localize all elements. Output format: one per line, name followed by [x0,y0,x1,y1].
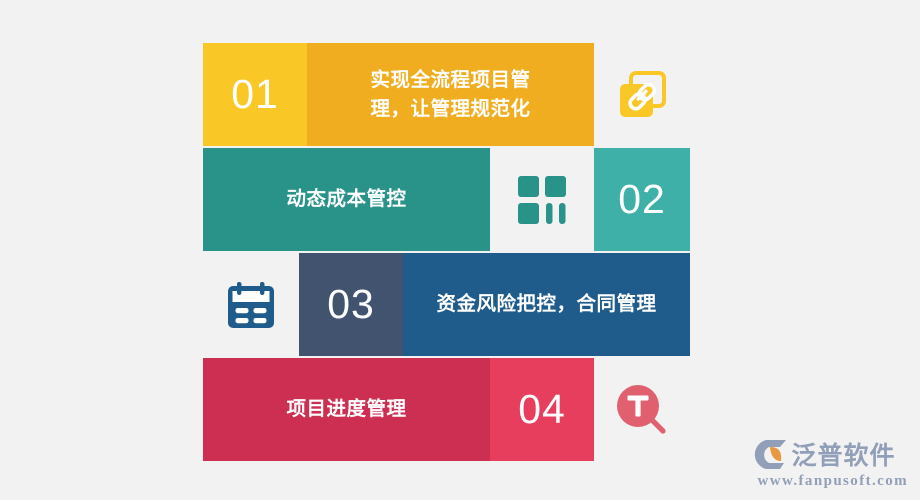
row-03-label: 资金风险把控，合同管理 [436,290,656,318]
watermark-brand-row: 泛普软件 [752,436,896,472]
row-03-number: 03 [299,253,403,356]
row-04-text-panel: 项目进度管理 [203,358,490,461]
row-01-icon-panel [594,43,690,146]
info-row-03: 03 资金风险把控，合同管理 [203,253,690,356]
row-01-label-line2: 理，让管理规范化 [370,97,530,120]
watermark-url: www.fanpusoft.com [758,473,908,490]
row-02-text-panel: 动态成本管控 [203,148,490,251]
row-01-label: 实现全流程项目管 理，让管理规范化 [370,66,530,123]
row-04-number: 04 [490,358,594,461]
watermark-brand-name: 泛普软件 [792,436,896,472]
fanpu-logo-icon [752,438,788,470]
watermark: 泛普软件 www.fanpusoft.com [752,436,908,490]
row-03-text-panel: 资金风险把控，合同管理 [403,253,690,356]
row-02-label: 动态成本管控 [286,185,406,213]
info-row-04: 项目进度管理 04 [203,358,690,461]
row-04-label: 项目进度管理 [286,395,406,423]
infographic-stage: 01 实现全流程项目管 理，让管理规范化 动态成本管控 [0,0,920,500]
dashboard-grid-icon [515,173,569,227]
row-04-icon-panel [594,358,690,461]
text-search-icon [613,381,671,439]
row-01-number: 01 [203,43,307,146]
calendar-icon [223,277,279,333]
link-copy-icon [614,67,670,123]
info-row-01: 01 实现全流程项目管 理，让管理规范化 [203,43,690,146]
row-02-number: 02 [594,148,690,251]
row-01-label-line1: 实现全流程项目管 [370,68,530,91]
row-01-text-panel: 实现全流程项目管 理，让管理规范化 [307,43,594,146]
row-02-icon-panel [490,148,594,251]
info-row-02: 动态成本管控 02 [203,148,690,251]
row-03-icon-panel [203,253,299,356]
